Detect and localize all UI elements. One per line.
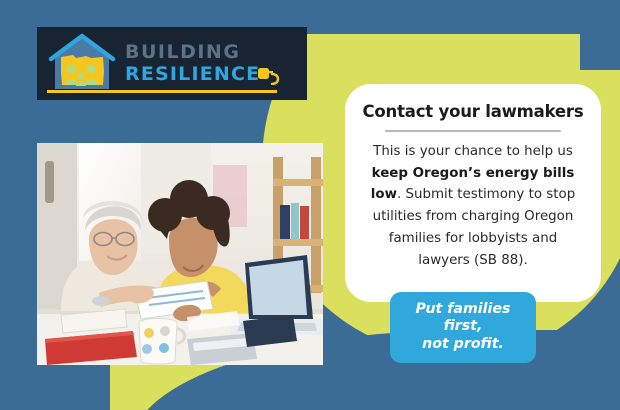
cta-line-2: not profit. <box>402 336 524 353</box>
logo-word-resilience: RESILIENCE <box>125 65 260 84</box>
card-title: Contact your lawmakers <box>361 102 585 121</box>
logo-word-building: BUILDING <box>125 43 283 62</box>
electric-plug-icon <box>257 65 283 85</box>
two-women-reviewing-bills-photo <box>37 143 323 365</box>
card-body-text: This is your chance to help us keep Oreg… <box>361 141 585 271</box>
house-oregon-family-icon <box>45 33 119 95</box>
logo-panel: BUILDING RESILIENCE <box>37 27 307 100</box>
logo-underline <box>47 90 277 93</box>
logo-wordmark: BUILDING RESILIENCE <box>125 43 283 85</box>
put-families-first-button[interactable]: Put families first, not profit. <box>390 292 536 363</box>
blue-right-top-strip <box>580 0 620 70</box>
poster-canvas: BUILDING RESILIENCE <box>0 0 620 410</box>
cta-line-1: Put families first, <box>402 301 524 336</box>
card-divider <box>385 130 561 132</box>
contact-lawmakers-card: Contact your lawmakers This is your chan… <box>345 84 601 302</box>
